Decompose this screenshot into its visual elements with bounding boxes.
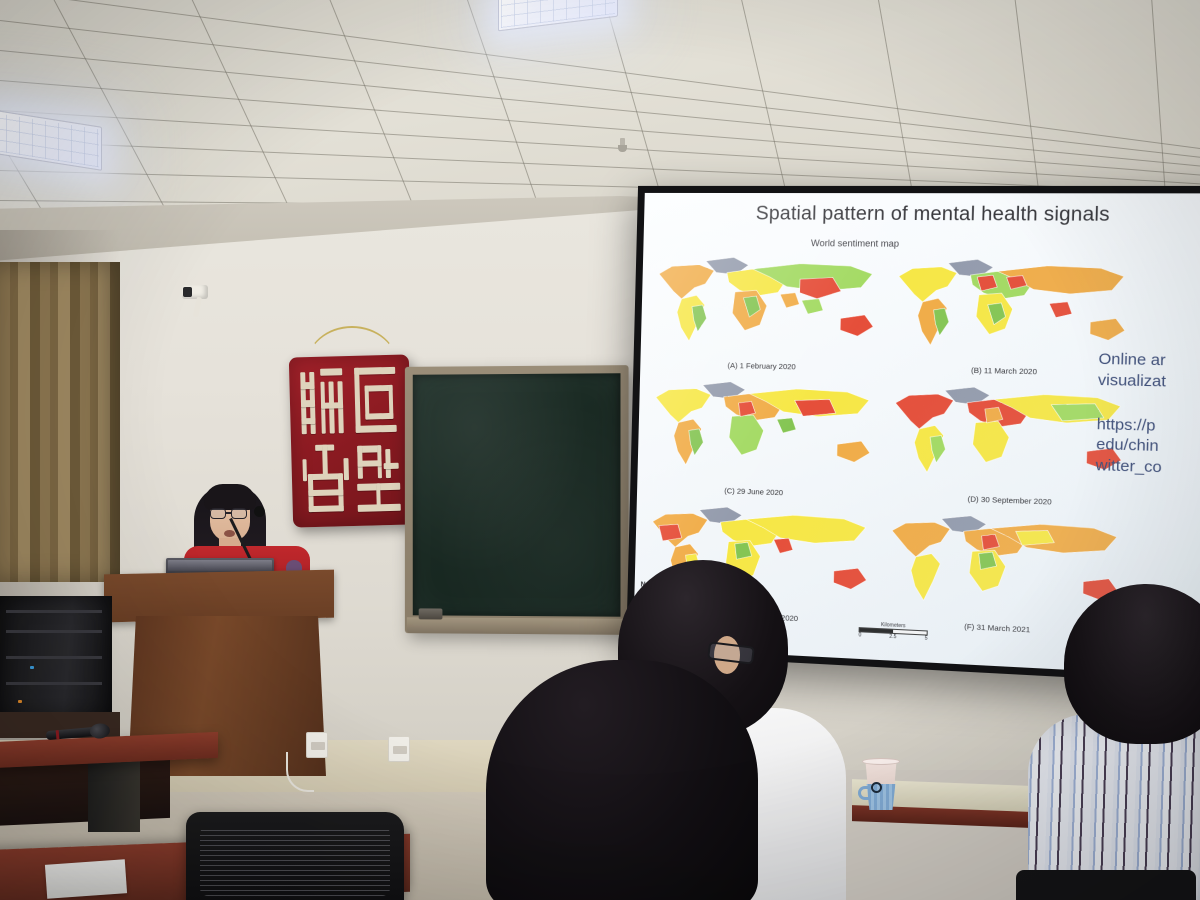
slide-title: Spatial pattern of mental health signals bbox=[756, 203, 1111, 227]
wall-plaque bbox=[288, 326, 418, 532]
presenter-fringe bbox=[204, 484, 256, 510]
audience-member-long-hair bbox=[486, 660, 758, 900]
ceiling-grid-line bbox=[0, 80, 1200, 180]
security-camera-icon bbox=[178, 281, 218, 321]
map-panel-a: (A) 1 February 2020 bbox=[648, 249, 888, 376]
presenter-mouth bbox=[224, 530, 235, 537]
av-led-amber bbox=[18, 700, 22, 703]
left-table-leg bbox=[88, 758, 140, 832]
plaque-glyph-3 bbox=[300, 443, 351, 518]
sprinkler-head-center bbox=[618, 138, 627, 154]
office-chair-left bbox=[186, 812, 404, 900]
cup-logo-icon bbox=[871, 782, 882, 793]
ceiling-grid-line bbox=[0, 0, 1200, 156]
av-equipment-rack bbox=[0, 596, 112, 718]
side-text-block-2: https://p edu/chin witter_co bbox=[1095, 414, 1200, 481]
slide-side-text: Online ar visualizat https://p edu/chin … bbox=[1095, 349, 1200, 504]
plaque-glyph-1 bbox=[298, 365, 349, 440]
podium-top bbox=[104, 570, 334, 623]
glasses-icon bbox=[210, 508, 250, 519]
scalebar-tick-2: 5 bbox=[925, 635, 928, 641]
av-led-blue bbox=[30, 666, 34, 669]
scalebar-tick-1: 2.5 bbox=[889, 634, 896, 641]
side-text-block-1: Online ar visualizat bbox=[1098, 349, 1200, 394]
map-caption-f: (F) 31 March 2021 bbox=[964, 622, 1030, 635]
side-text-line-1: Online ar bbox=[1098, 349, 1200, 372]
wall-outlet-right bbox=[388, 736, 410, 762]
chalkboard-eraser bbox=[419, 608, 443, 619]
scalebar-tick-0: 0 bbox=[858, 632, 861, 638]
side-text-line-2: visualizat bbox=[1098, 370, 1200, 394]
lecture-room-photo: Spatial pattern of mental health signals… bbox=[0, 0, 1200, 900]
map-scalebar: Kilometers 0 2.5 5 bbox=[858, 621, 928, 642]
window-curtain bbox=[0, 262, 120, 582]
plaque-glyph-2 bbox=[351, 364, 402, 439]
office-chair-right bbox=[1016, 870, 1196, 900]
world-map-svg bbox=[888, 251, 1141, 363]
world-map-svg bbox=[649, 249, 889, 358]
side-text-line-5: witter_co bbox=[1095, 456, 1200, 481]
map-caption-c: (C) 29 June 2020 bbox=[724, 486, 783, 497]
map-caption-d: (D) 30 September 2020 bbox=[967, 494, 1051, 506]
paper-coffee-cup bbox=[862, 760, 900, 812]
plaque-glyph-4 bbox=[353, 442, 404, 517]
map-caption-b: (B) 11 March 2020 bbox=[971, 366, 1037, 377]
microphone-head-icon bbox=[254, 506, 265, 517]
paper-sheet bbox=[45, 859, 127, 898]
audience-member-striped-shirt bbox=[1028, 584, 1200, 900]
world-map-svg bbox=[645, 373, 885, 485]
slide-subtitle: World sentiment map bbox=[811, 238, 899, 249]
map-panel-c: (C) 29 June 2020 bbox=[645, 373, 885, 503]
map-caption-a: (A) 1 February 2020 bbox=[727, 361, 795, 372]
